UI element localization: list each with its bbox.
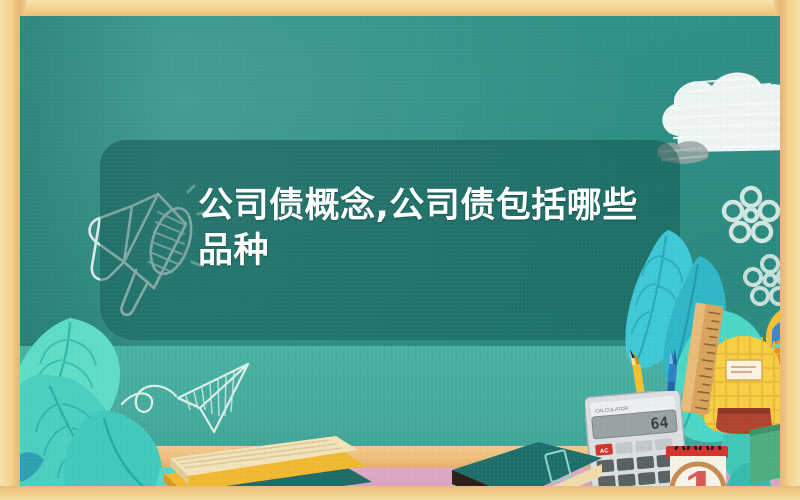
- page-title: 公司债概念,公司债包括哪些品种: [198, 184, 668, 274]
- banner-image: 64 CALCULATOR AC: [0, 0, 800, 500]
- calculator-display-value: 64: [650, 413, 670, 433]
- frame-band-bottom: [0, 486, 800, 500]
- book-green: [746, 416, 780, 486]
- chalkboard: 64 CALCULATOR AC: [20, 16, 780, 500]
